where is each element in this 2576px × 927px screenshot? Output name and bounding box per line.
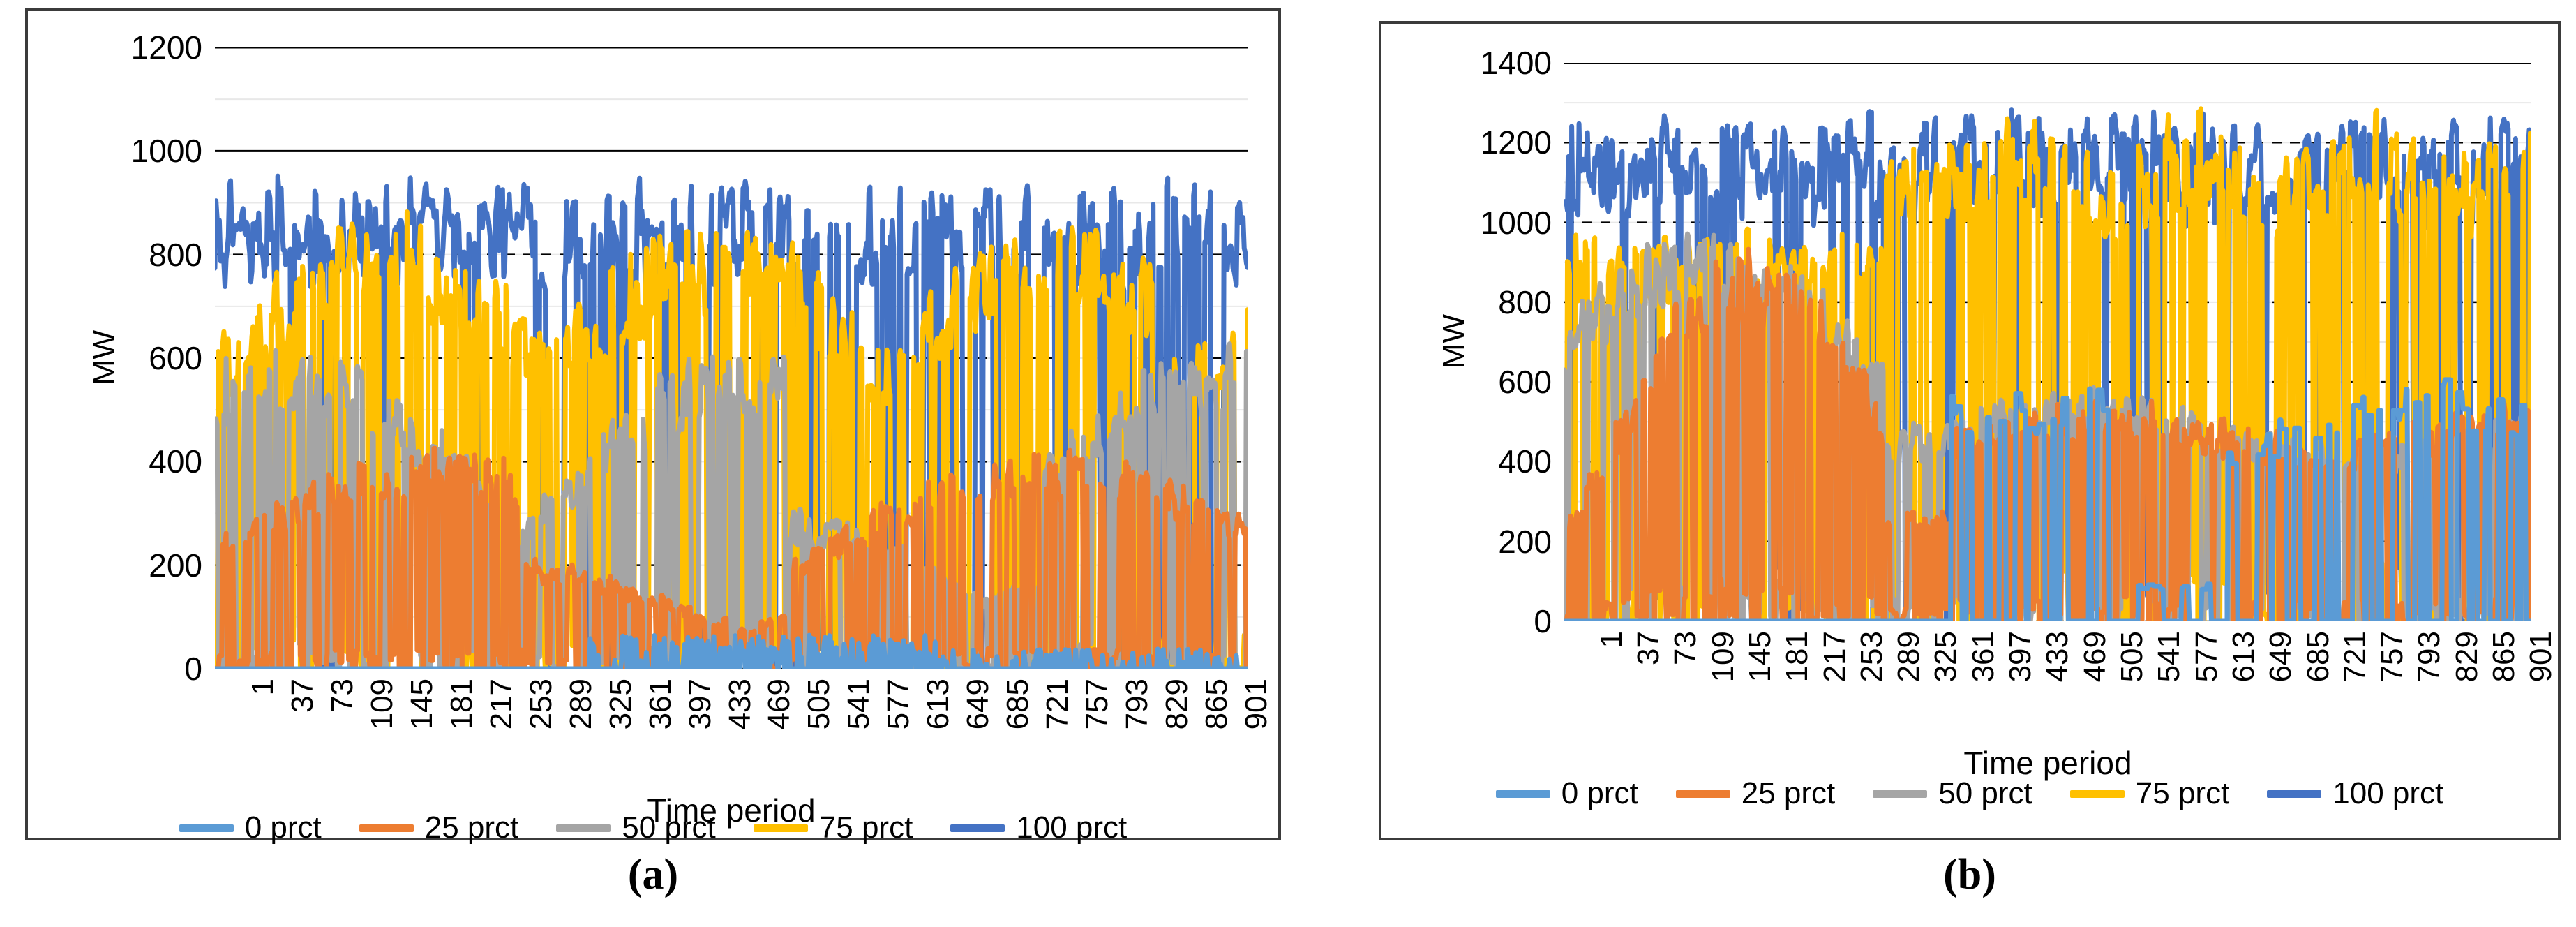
legend-swatch-icon bbox=[754, 824, 808, 832]
y-axis-tick-labels-b: 0200400600800100012001400 bbox=[1419, 63, 1552, 621]
chart-b: MW 0200400600800100012001400 13773109145… bbox=[1381, 24, 2558, 838]
y-tick-label: 1400 bbox=[1481, 44, 1552, 82]
x-tick-label: 325 bbox=[604, 678, 638, 729]
x-tick-label: 469 bbox=[2078, 631, 2113, 682]
y-tick-label: 0 bbox=[1534, 602, 1552, 640]
legend-label: 75 prct bbox=[819, 810, 913, 845]
legend-item[interactable]: 25 prct bbox=[1676, 776, 1836, 811]
x-tick-label: 253 bbox=[1855, 631, 1889, 682]
x-tick-label: 649 bbox=[2263, 631, 2298, 682]
x-tick-label: 649 bbox=[961, 678, 996, 729]
legend-a: 0 prct25 prct50 prct75 prct100 prct bbox=[28, 810, 1278, 845]
x-tick-label: 361 bbox=[1966, 631, 2001, 682]
legend-label: 25 prct bbox=[425, 810, 519, 845]
plot-area-b bbox=[1564, 63, 2531, 621]
x-tick-label: 181 bbox=[1780, 631, 1815, 682]
x-tick-label: 721 bbox=[1040, 678, 1075, 729]
x-tick-label: 253 bbox=[524, 678, 559, 729]
x-tick-label: 397 bbox=[683, 678, 718, 729]
subfigure-caption-a: (a) bbox=[25, 850, 1281, 900]
series-canvas bbox=[215, 47, 1248, 669]
legend-swatch-icon bbox=[2267, 790, 2321, 798]
x-tick-label: 73 bbox=[325, 678, 360, 713]
x-tick-label: 613 bbox=[921, 678, 956, 729]
x-tick-label: 109 bbox=[1706, 631, 1741, 682]
legend-item[interactable]: 75 prct bbox=[2070, 776, 2230, 811]
x-tick-label: 37 bbox=[285, 678, 320, 713]
legend-swatch-icon bbox=[2070, 790, 2125, 798]
y-tick-label: 1200 bbox=[131, 29, 202, 66]
x-tick-label: 109 bbox=[365, 678, 400, 729]
x-tick-label: 541 bbox=[841, 678, 876, 729]
legend-swatch-icon bbox=[556, 824, 611, 832]
legend-label: 75 prct bbox=[2136, 776, 2230, 811]
x-tick-label: 685 bbox=[2301, 631, 2336, 682]
legend-swatch-icon bbox=[1873, 790, 1927, 798]
x-tick-label: 433 bbox=[2040, 631, 2075, 682]
subfigure-caption-b: (b) bbox=[1379, 850, 2561, 900]
x-tick-label: 541 bbox=[2152, 631, 2187, 682]
legend-item[interactable]: 0 prct bbox=[1496, 776, 1638, 811]
x-tick-label: 361 bbox=[643, 678, 678, 729]
legend-item[interactable]: 50 prct bbox=[1873, 776, 2032, 811]
series-canvas bbox=[1564, 63, 2531, 621]
x-tick-label: 577 bbox=[2189, 631, 2224, 682]
y-tick-label: 800 bbox=[149, 236, 202, 274]
legend-swatch-icon bbox=[950, 824, 1005, 832]
x-tick-label: 145 bbox=[405, 678, 440, 729]
x-tick-label: 721 bbox=[2338, 631, 2373, 682]
x-tick-label: 613 bbox=[2226, 631, 2261, 682]
y-axis-tick-labels-a: 020040060080010001200 bbox=[70, 47, 202, 669]
legend-item[interactable]: 100 prct bbox=[2267, 776, 2443, 811]
x-tick-label: 1 bbox=[1594, 631, 1629, 648]
figure-container: MW 020040060080010001200 137731091451812… bbox=[0, 0, 2576, 927]
y-tick-label: 200 bbox=[1498, 523, 1552, 561]
x-tick-label: 865 bbox=[2487, 631, 2522, 682]
legend-label: 0 prct bbox=[1562, 776, 1638, 811]
legend-label: 0 prct bbox=[245, 810, 322, 845]
y-tick-label: 0 bbox=[184, 650, 202, 688]
x-tick-label: 757 bbox=[2375, 631, 2410, 682]
x-tick-label: 793 bbox=[2412, 631, 2447, 682]
panel-b: MW 0200400600800100012001400 13773109145… bbox=[1379, 21, 2561, 840]
x-tick-label: 1 bbox=[246, 678, 280, 695]
y-tick-label: 800 bbox=[1498, 283, 1552, 321]
y-tick-label: 400 bbox=[1498, 443, 1552, 480]
x-tick-label: 793 bbox=[1120, 678, 1155, 729]
x-tick-label: 577 bbox=[881, 678, 916, 729]
x-tick-label: 901 bbox=[1239, 678, 1274, 729]
x-tick-label: 37 bbox=[1631, 631, 1666, 665]
x-tick-label: 757 bbox=[1080, 678, 1115, 729]
legend-label: 25 prct bbox=[1742, 776, 1836, 811]
y-tick-label: 600 bbox=[1498, 363, 1552, 401]
x-tick-label: 289 bbox=[564, 678, 599, 729]
chart-a: MW 020040060080010001200 137731091451812… bbox=[28, 11, 1278, 838]
legend-swatch-icon bbox=[359, 824, 414, 832]
legend-item[interactable]: 50 prct bbox=[556, 810, 716, 845]
legend-item[interactable]: 0 prct bbox=[179, 810, 322, 845]
x-tick-label: 865 bbox=[1199, 678, 1234, 729]
x-axis-tick-labels-a: 1377310914518121725328932536139743346950… bbox=[215, 678, 1248, 790]
x-tick-label: 73 bbox=[1668, 631, 1703, 665]
x-tick-label: 289 bbox=[1892, 631, 1926, 682]
y-tick-label: 200 bbox=[149, 547, 202, 584]
y-tick-label: 1000 bbox=[131, 132, 202, 170]
x-tick-label: 325 bbox=[1929, 631, 1963, 682]
x-tick-label: 505 bbox=[2115, 631, 2150, 682]
x-tick-label: 829 bbox=[1160, 678, 1195, 729]
x-tick-label: 685 bbox=[1001, 678, 1035, 729]
y-tick-label: 1000 bbox=[1481, 204, 1552, 242]
legend-label: 50 prct bbox=[622, 810, 716, 845]
legend-label: 100 prct bbox=[2332, 776, 2443, 811]
x-tick-label: 433 bbox=[723, 678, 758, 729]
panel-a: MW 020040060080010001200 137731091451812… bbox=[25, 8, 1281, 840]
x-tick-label: 829 bbox=[2450, 631, 2485, 682]
x-tick-label: 217 bbox=[484, 678, 519, 729]
x-tick-label: 901 bbox=[2524, 631, 2559, 682]
legend-swatch-icon bbox=[179, 824, 234, 832]
legend-label: 50 prct bbox=[1938, 776, 2032, 811]
legend-swatch-icon bbox=[1676, 790, 1730, 798]
y-tick-label: 400 bbox=[149, 443, 202, 480]
x-axis-tick-labels-b: 1377310914518121725328932536139743346950… bbox=[1564, 631, 2531, 743]
legend-item[interactable]: 25 prct bbox=[359, 810, 519, 845]
legend-b: 0 prct25 prct50 prct75 prct100 prct bbox=[1381, 776, 2558, 811]
legend-label: 100 prct bbox=[1016, 810, 1127, 845]
x-tick-label: 397 bbox=[2003, 631, 2038, 682]
x-tick-label: 505 bbox=[802, 678, 837, 729]
legend-swatch-icon bbox=[1496, 790, 1550, 798]
y-tick-label: 600 bbox=[149, 339, 202, 377]
x-tick-label: 145 bbox=[1743, 631, 1778, 682]
plot-area-a bbox=[215, 47, 1248, 669]
legend-item[interactable]: 75 prct bbox=[754, 810, 913, 845]
x-tick-label: 181 bbox=[444, 678, 479, 729]
legend-item[interactable]: 100 prct bbox=[950, 810, 1127, 845]
y-tick-label: 1200 bbox=[1481, 124, 1552, 161]
x-tick-label: 217 bbox=[1818, 631, 1852, 682]
x-tick-label: 469 bbox=[762, 678, 797, 729]
